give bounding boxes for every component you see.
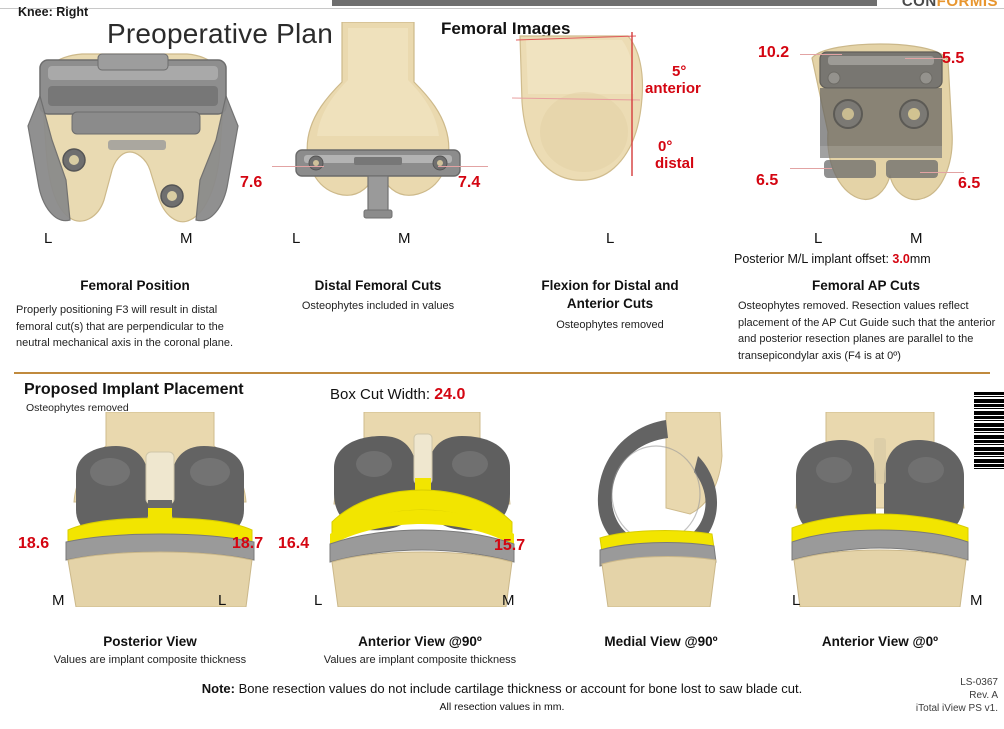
view-anterior90-render-wrap (312, 412, 532, 607)
footer-note-sub: All resection values in mm. (0, 701, 1004, 713)
label-medial: M (398, 230, 411, 247)
caption-posterior-sub: Values are implant composite thickness (30, 653, 270, 668)
document-id-block: LS-0367 Rev. A iTotal iView PS v1. (916, 676, 998, 715)
leader-line-right (438, 166, 488, 167)
logo-text-con: CON (902, 0, 937, 9)
caption-medial90-title: Medial View @90º (566, 634, 756, 650)
posterior-value-left: 18.6 (18, 535, 49, 553)
label-medial: M (910, 230, 923, 247)
caption-femoral-position-body: Properly positioning F3 will result in d… (16, 302, 248, 352)
anterior-view-90-render (312, 412, 532, 607)
leader-top-left (800, 54, 842, 55)
caption-distal-cuts-sub: Osteophytes included in values (262, 299, 494, 314)
box-cut-width-readout: Box Cut Width: 24.0 (330, 386, 465, 404)
label-lateral: L (44, 230, 52, 247)
caption-anterior90-sub: Values are implant composite thickness (300, 653, 540, 668)
caption-flexion-sub: Osteophytes removed (500, 318, 720, 333)
panel-flexion (510, 28, 710, 218)
leader-bottom-left (790, 168, 832, 169)
section-divider (14, 372, 990, 374)
caption-anterior0-title: Anterior View @0º (770, 634, 990, 650)
anterior-view-0-render (780, 412, 980, 607)
label-lateral: L (314, 592, 322, 609)
box-cut-width-value: 24.0 (434, 386, 465, 403)
footer-note-bold: Note: (202, 681, 235, 696)
label-medial: M (180, 230, 193, 247)
flexion-distal-angle: 0° (658, 138, 672, 155)
anterior90-value-right: 15.7 (494, 537, 525, 555)
flexion-distal-word: distal (655, 155, 694, 172)
ap-cut-value-top-left: 10.2 (758, 44, 789, 62)
femoral-position-render (12, 30, 262, 230)
label-lateral: L (292, 230, 300, 247)
label-lateral: L (814, 230, 822, 247)
flexion-render (510, 28, 710, 218)
label-medial: M (970, 592, 983, 609)
leader-bottom-right (920, 172, 964, 173)
ap-cut-value-bottom-right: 6.5 (958, 175, 980, 193)
view-posterior-render-wrap (50, 412, 270, 607)
label-medial: M (502, 592, 515, 609)
conformis-logo: CONFORMIS (902, 0, 998, 9)
caption-distal-cuts-title: Distal Femoral Cuts (262, 278, 494, 294)
doc-id-line-3: iTotal iView PS v1. (916, 702, 998, 715)
ap-cut-value-top-right: 5.5 (942, 50, 964, 68)
posterior-view-render (50, 412, 270, 607)
doc-id-line-2: Rev. A (916, 689, 998, 702)
panel-femoral-position (12, 30, 262, 230)
label-medial: M (52, 592, 65, 609)
medial-view-90-render (570, 412, 760, 607)
distal-cut-value-left: 7.6 (240, 174, 262, 192)
flexion-anterior-angle: 5° (672, 63, 686, 80)
anterior90-value-left: 16.4 (278, 535, 309, 553)
knee-side-label: Knee: Right (18, 5, 88, 19)
header-gray-band (332, 0, 877, 6)
preoperative-plan-page: CONFORMIS Knee: Right Preoperative Plan … (0, 0, 1004, 729)
label-lateral: L (606, 230, 614, 247)
top-header-strip: CONFORMIS (0, 0, 1004, 9)
caption-ap-cuts-body: Osteophytes removed. Resection values re… (738, 298, 996, 364)
posterior-value-right: 18.7 (232, 535, 263, 553)
view-medial90-render-wrap (570, 412, 760, 607)
logo-text-formis: FORMIS (937, 0, 998, 9)
caption-femoral-position-title: Femoral Position (10, 278, 260, 294)
footer-note-text: Bone resection values do not include car… (239, 681, 803, 696)
panel-distal-femoral-cuts (268, 22, 488, 222)
leader-line-left (272, 166, 324, 167)
posterior-offset-value: 3.0 (892, 252, 909, 266)
doc-id-line-1: LS-0367 (916, 676, 998, 689)
caption-flexion-title-line1: Flexion for Distal and (500, 278, 720, 294)
distal-cut-value-right: 7.4 (458, 174, 480, 192)
caption-anterior90-title: Anterior View @90º (305, 634, 535, 650)
distal-femoral-cuts-render (268, 22, 488, 222)
view-anterior0-render-wrap (780, 412, 980, 607)
label-lateral: L (218, 592, 226, 609)
posterior-offset-readout: Posterior M/L implant offset: 3.0mm (734, 252, 931, 266)
implant-section-title: Proposed Implant Placement (24, 381, 244, 399)
caption-posterior-title: Posterior View (40, 634, 260, 650)
label-lateral: L (792, 592, 800, 609)
posterior-offset-label: Posterior M/L implant offset: (734, 252, 889, 266)
footer-note: Note: Bone resection values do not inclu… (0, 681, 1004, 696)
posterior-offset-unit: mm (910, 252, 931, 266)
caption-flexion-title-line2: Anterior Cuts (500, 296, 720, 312)
header-hairline (0, 8, 1004, 9)
flexion-anterior-word: anterior (645, 80, 701, 97)
caption-ap-cuts-title: Femoral AP Cuts (736, 278, 996, 294)
box-cut-width-label: Box Cut Width: (330, 386, 430, 403)
leader-top-right (905, 58, 945, 59)
ap-cut-value-bottom-left: 6.5 (756, 172, 778, 190)
